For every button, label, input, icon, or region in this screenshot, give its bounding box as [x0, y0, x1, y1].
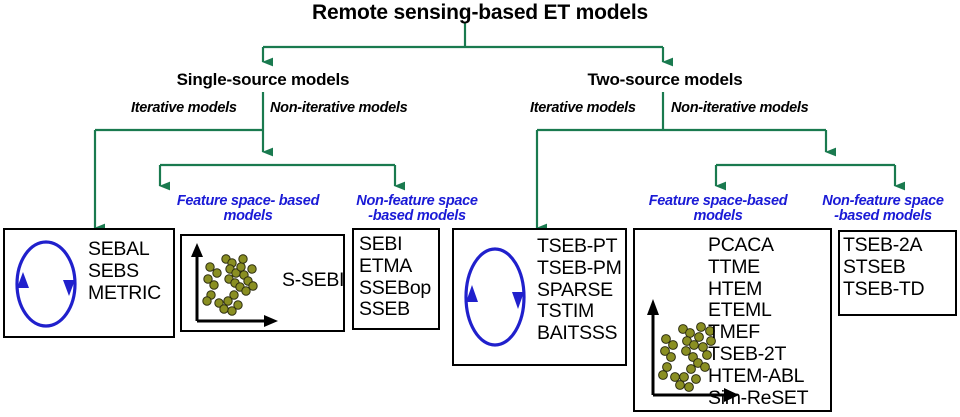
box-single-source-feature-space[interactable]: S-SEBI: [180, 234, 345, 332]
branch-label-two-source: Two-source models: [555, 71, 775, 88]
label-right-nonfeature-space: Non-feature space -based models: [807, 194, 959, 224]
label-right-feature-space: Feature space-based models: [629, 194, 807, 224]
label-left-iterative: Iterative models: [131, 101, 237, 116]
loop-arrow-icon: [11, 236, 81, 332]
label-right-iterative: Iterative models: [530, 101, 636, 116]
model-list-single-source-iterative: SEBAL SEBS METRIC: [88, 239, 161, 304]
label-left-nonfeature-space: Non-feature space -based models: [337, 194, 497, 224]
model-list-single-source-feature-space: S-SEBI: [282, 270, 344, 292]
diagram-canvas: Remote sensing-based ET models Single-so…: [0, 0, 960, 417]
box-two-source-feature-space[interactable]: PCACA TTME HTEM ETEML TMEF TSEB-2T HTEM-…: [633, 228, 832, 412]
model-list-two-source-iterative: TSEB-PT TSEB-PM SPARSE TSTIM BAITSSS: [537, 236, 622, 345]
box-single-source-iterative[interactable]: SEBAL SEBS METRIC: [3, 228, 175, 338]
model-list-two-source-non-feature-space: TSEB-2A STSEB TSEB-TD: [843, 235, 924, 300]
diagram-title: Remote sensing-based ET models: [0, 2, 960, 23]
scatter-plot-icon: [186, 239, 278, 329]
loop-arrow-icon: [460, 240, 530, 355]
model-list-single-source-non-feature-space: SEBI ETMA SSEBop SSEB: [359, 234, 431, 321]
model-list-two-source-feature-space: PCACA TTME HTEM ETEML TMEF TSEB-2T HTEM-…: [708, 235, 808, 410]
box-single-source-non-feature-space[interactable]: SEBI ETMA SSEBop SSEB: [352, 228, 440, 330]
label-right-noniterative: Non-iterative models: [671, 101, 808, 116]
label-left-noniterative: Non-iterative models: [270, 101, 407, 116]
branch-label-single-source: Single-source models: [153, 71, 373, 88]
box-two-source-iterative[interactable]: TSEB-PT TSEB-PM SPARSE TSTIM BAITSSS: [452, 228, 627, 366]
label-left-feature-space: Feature space- based models: [155, 194, 341, 224]
box-two-source-non-feature-space[interactable]: TSEB-2A STSEB TSEB-TD: [838, 230, 957, 316]
